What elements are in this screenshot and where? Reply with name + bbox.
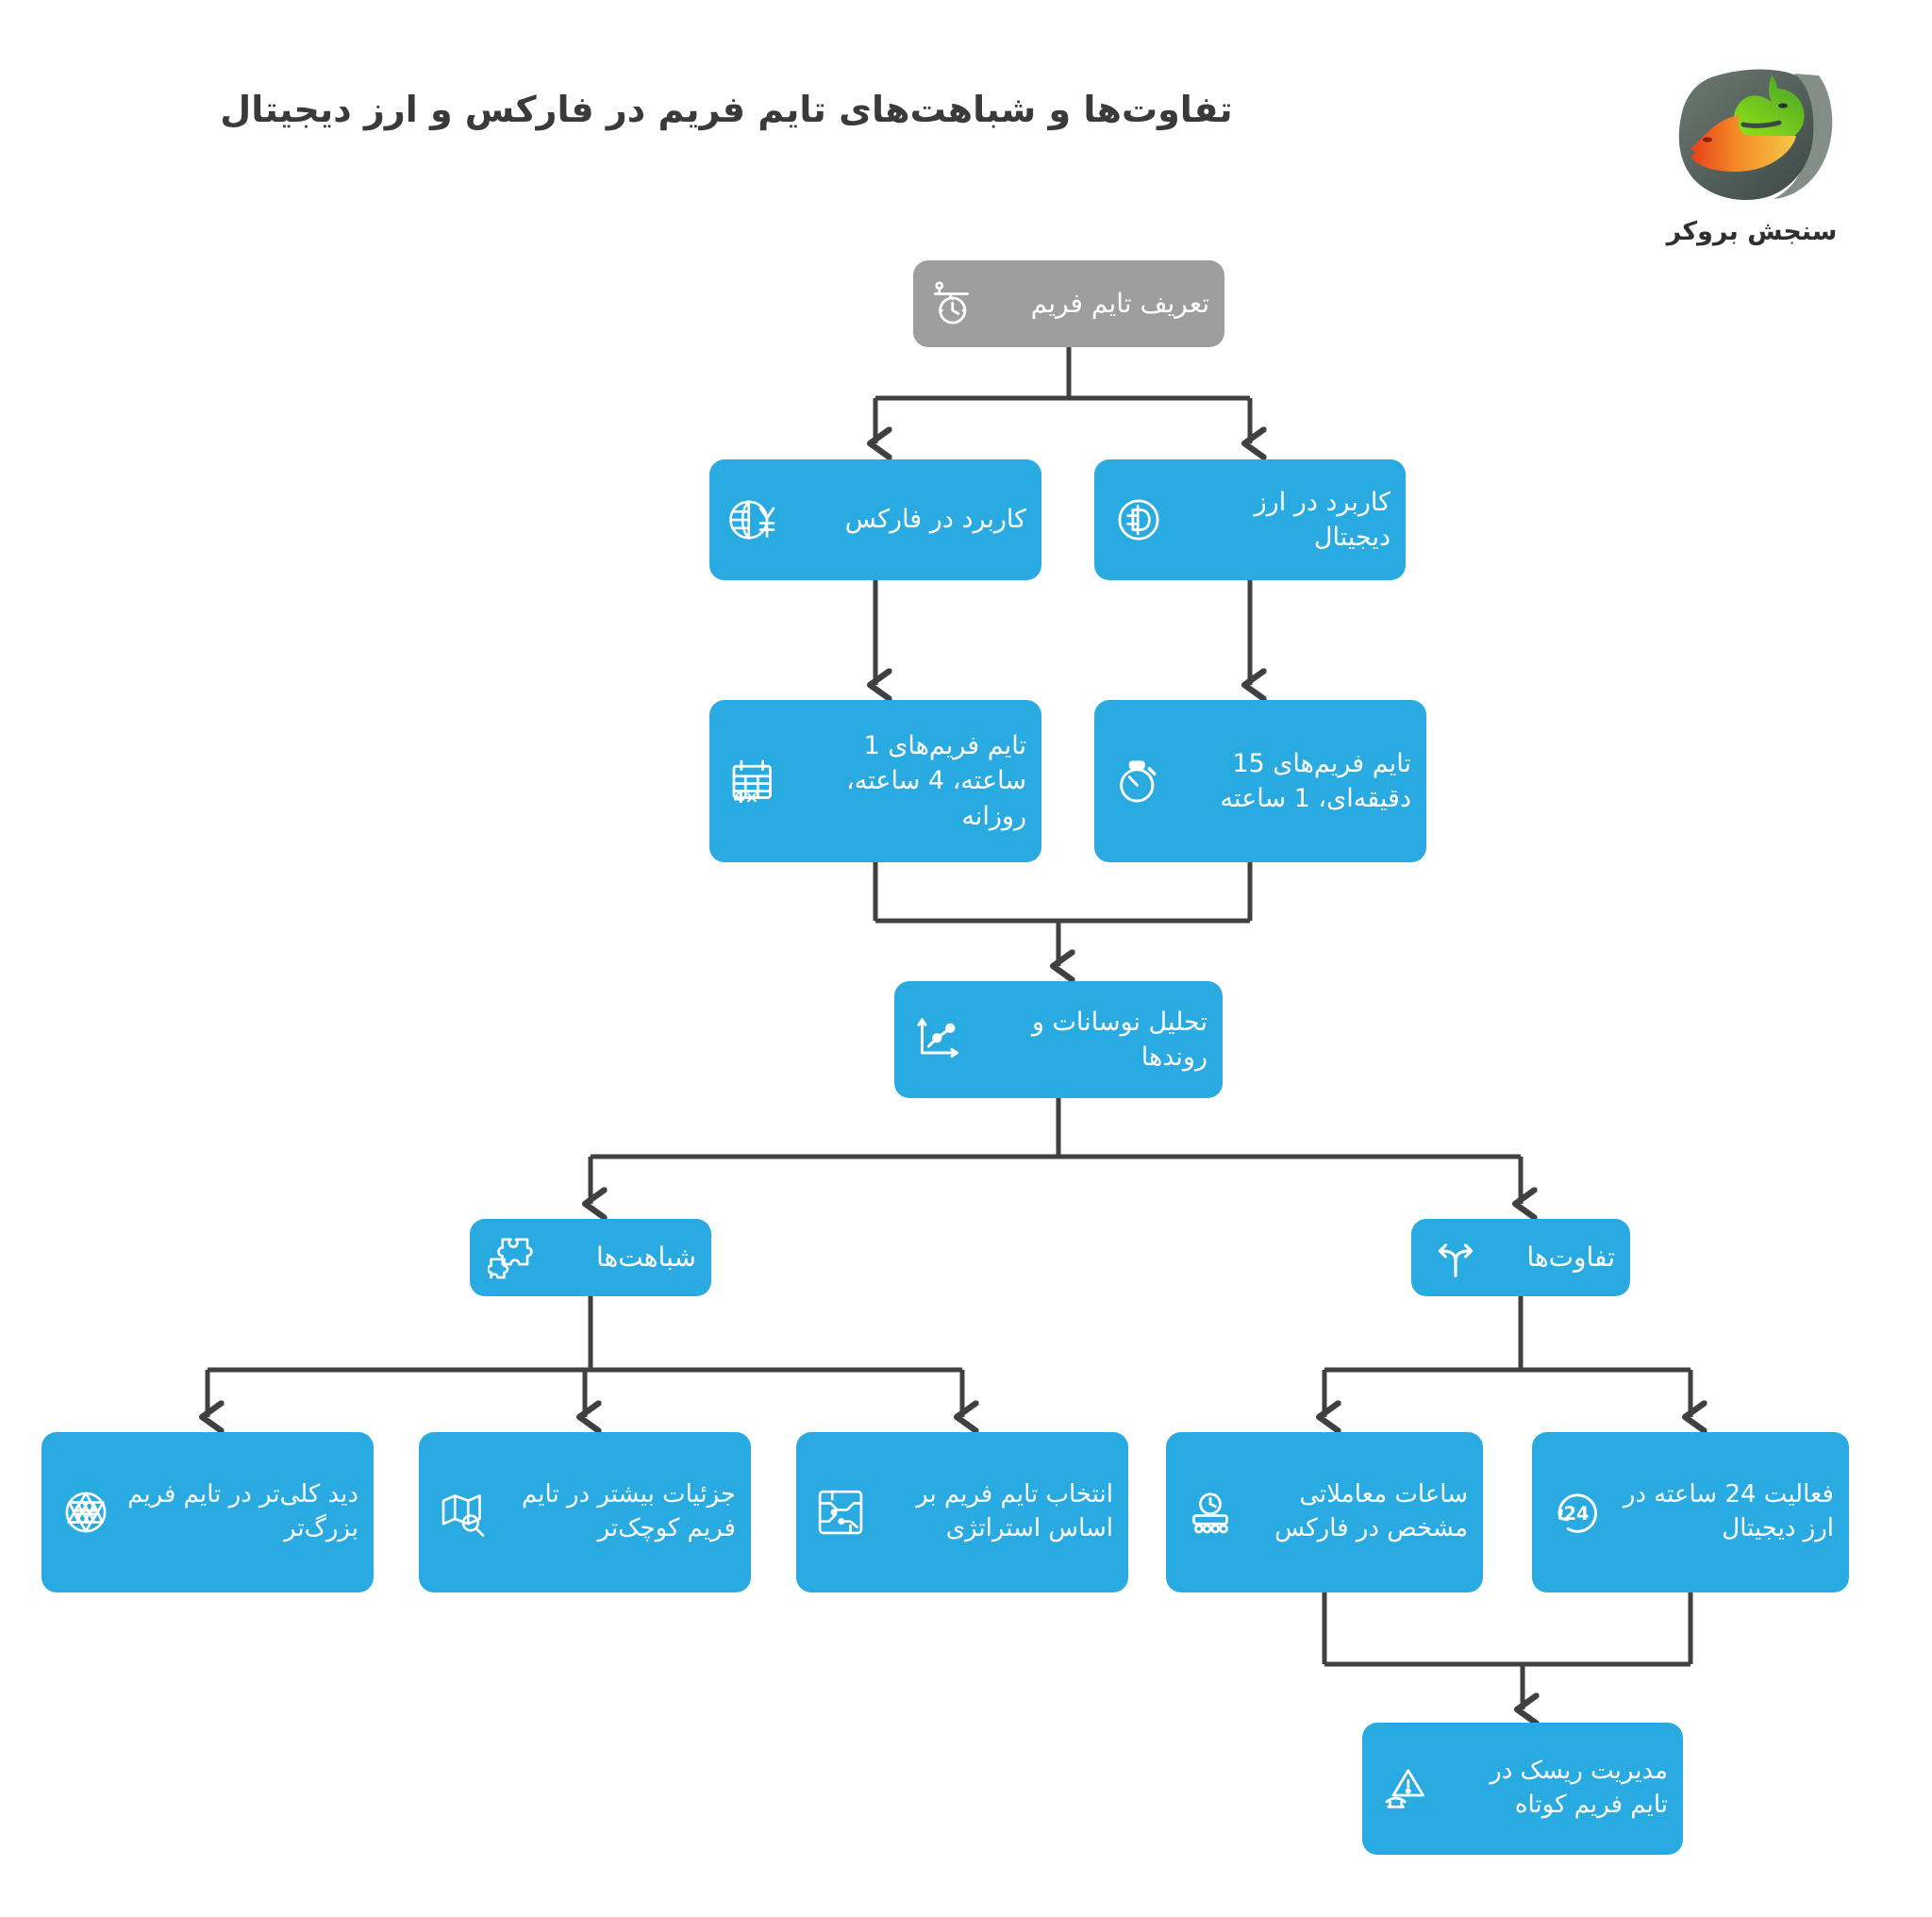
svg-text:×4: ×4 <box>733 789 758 808</box>
hanging-clock-icon <box>928 275 987 333</box>
node-label: ساعات معاملاتی مشخص در فارکس <box>1249 1478 1468 1546</box>
node-similarities[interactable]: شباهت‌ها <box>470 1219 711 1296</box>
line-chart-icon <box>909 1010 968 1069</box>
node-label: تایم فریم‌های 15 دقیقه‌ای، 1 ساعته <box>1177 746 1411 817</box>
node-definition[interactable]: تعریف تایم فریم <box>913 260 1224 347</box>
node-label: تایم فریم‌های 1 ساعته، 4 ساعته، روزانه <box>792 728 1026 834</box>
fork-arrows-icon <box>1426 1228 1485 1287</box>
node-label: تفاوت‌ها <box>1494 1240 1615 1276</box>
node-label: مدیریت ریسک در تایم فریم کوتاه <box>1445 1755 1668 1823</box>
node-crypto-24h-activity[interactable]: 24 فعالیت 24 ساعته در ارز دیجیتال <box>1532 1432 1849 1592</box>
node-forex-usage[interactable]: کاربرد در فارکس <box>709 459 1041 580</box>
node-label: فعالیت 24 ساعته در ارز دیجیتال <box>1615 1478 1834 1546</box>
node-label: شباهت‌ها <box>553 1240 696 1276</box>
24-hours-cycle-icon: 24 <box>1547 1483 1606 1542</box>
node-bigger-timeframe-overview[interactable]: دید کلی‌تر در تایم فریم بزرگ‌تر <box>42 1432 374 1592</box>
aperture-icon <box>57 1483 115 1542</box>
node-forex-timeframes[interactable]: ×4 تایم فریم‌های 1 ساعته، 4 ساعته، روزان… <box>709 700 1041 862</box>
node-trend-analysis[interactable]: تحلیل نوسانات و روندها <box>894 981 1223 1098</box>
map-search-icon <box>434 1483 492 1542</box>
node-strategy-based-timeframe[interactable]: انتخاب تایم فریم بر اساس استراتژی <box>796 1432 1128 1592</box>
node-crypto-timeframes[interactable]: تایم فریم‌های 15 دقیقه‌ای، 1 ساعته <box>1094 700 1426 862</box>
node-forex-trading-hours[interactable]: ساعات معاملاتی مشخص در فارکس <box>1166 1432 1483 1592</box>
node-label: تحلیل نوسانات و روندها <box>977 1005 1207 1075</box>
node-label: کاربرد در فارکس <box>792 502 1026 537</box>
node-label: تعریف تایم فریم <box>996 286 1209 323</box>
strategy-grid-icon <box>811 1483 870 1542</box>
node-smaller-timeframe-detail[interactable]: جزئیات بیشتر در تایم فریم کوچک‌تر <box>419 1432 751 1592</box>
flowchart-canvas: تفاوت‌ها و شباهت‌های تایم فریم در فارکس … <box>0 0 1932 1917</box>
node-label: دید کلی‌تر در تایم فریم بزرگ‌تر <box>125 1478 358 1546</box>
stopwatch-icon <box>1109 752 1168 810</box>
risk-warning-icon <box>1377 1759 1436 1818</box>
calendar-x4-icon: ×4 <box>724 752 783 810</box>
globe-yen-icon <box>724 491 783 549</box>
node-differences[interactable]: تفاوت‌ها <box>1411 1219 1630 1296</box>
puzzle-pieces-icon <box>485 1228 543 1287</box>
crypto-coin-icon <box>1109 491 1168 549</box>
node-label: کاربرد در ارز دیجیتال <box>1177 485 1391 556</box>
clock-conveyor-icon <box>1181 1483 1240 1542</box>
node-label: جزئیات بیشتر در تایم فریم کوچک‌تر <box>502 1478 736 1546</box>
svg-text:24: 24 <box>1564 1503 1590 1525</box>
node-crypto-usage[interactable]: کاربرد در ارز دیجیتال <box>1094 459 1406 580</box>
node-short-timeframe-risk[interactable]: مدیریت ریسک در تایم فریم کوتاه <box>1362 1723 1683 1855</box>
node-label: انتخاب تایم فریم بر اساس استراتژی <box>879 1478 1113 1546</box>
